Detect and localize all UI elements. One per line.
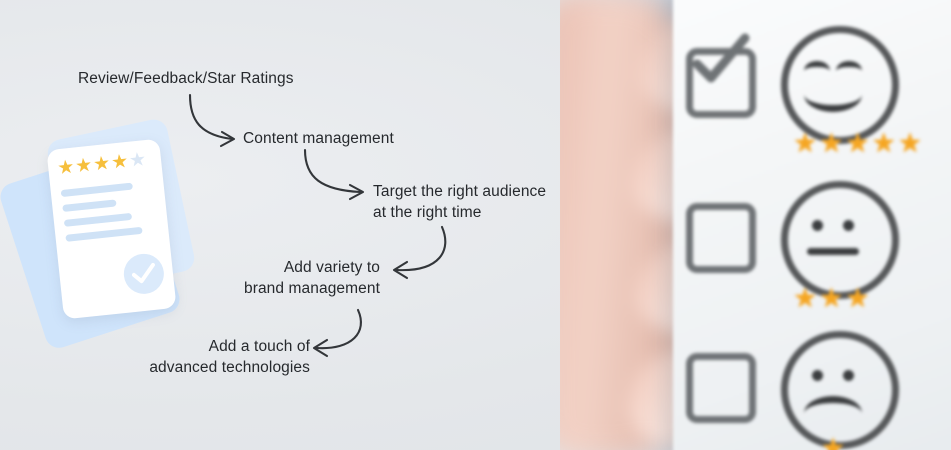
neutral-mouth (807, 248, 859, 255)
document-check-badge (122, 252, 166, 296)
arrow-1-head (221, 132, 234, 146)
arrow-4-head (314, 340, 327, 356)
feedback-row-sad[interactable]: ★ (673, 331, 951, 450)
arrow-2-head (350, 185, 363, 199)
star: ★ (793, 130, 817, 157)
star-filled: ★ (74, 156, 93, 177)
happy-mouth (804, 77, 862, 112)
feedback-row-happy[interactable]: ★ ★ ★ ★ ★ (673, 26, 951, 166)
checkbox-neutral[interactable] (686, 203, 756, 273)
stars-happy: ★ ★ ★ ★ ★ (793, 130, 922, 157)
feedback-row-neutral[interactable]: ★ ★ ★ (673, 181, 951, 321)
feedback-rows: ★ ★ ★ ★ ★ ★ ★ ★ (673, 0, 951, 450)
star: ★ (898, 130, 922, 157)
arrow-3-head (394, 262, 407, 278)
sad-eye-right (843, 370, 854, 381)
flow-step-4: Add variety to brand management (222, 257, 380, 299)
neutral-eye-right (843, 220, 854, 231)
document-text-line (62, 199, 116, 212)
sad-eye-left (812, 370, 823, 381)
document-text-line (64, 213, 132, 227)
document-text-line (61, 183, 133, 197)
arrow-3-path (397, 227, 445, 270)
stars-sad: ★ (821, 435, 845, 450)
flow-step-5: Add a touch of advanced technologies (120, 336, 310, 378)
star: ★ (821, 435, 845, 450)
infographic-canvas: ★ ★ ★ ★ ★ ★ ★ ★ (0, 0, 951, 450)
star-empty: ★ (128, 150, 147, 171)
flow-step-2: Content management (243, 128, 394, 149)
document-front-card: ★ ★ ★ ★ ★ (46, 139, 176, 320)
neutral-eye-left (812, 220, 823, 231)
star: ★ (845, 130, 869, 157)
document-illustration: ★ ★ ★ ★ ★ (12, 126, 212, 341)
sad-mouth (804, 396, 862, 431)
star: ★ (819, 130, 843, 157)
checkmark-icon (689, 32, 751, 88)
sad-face-icon (781, 331, 899, 449)
star: ★ (845, 285, 869, 312)
star-filled: ★ (56, 158, 75, 179)
happy-face-icon (781, 26, 899, 144)
star: ★ (819, 285, 843, 312)
arrow-2-path (305, 150, 360, 192)
star: ★ (793, 285, 817, 312)
feedback-photo: ★ ★ ★ ★ ★ ★ ★ ★ (560, 0, 951, 450)
star: ★ (872, 130, 896, 157)
flow-step-1: Review/Feedback/Star Ratings (78, 68, 294, 89)
flow-step-3: Target the right audience at the right t… (373, 181, 546, 223)
stars-neutral: ★ ★ ★ (793, 285, 870, 312)
arrow-4-path (317, 310, 361, 348)
star-filled: ★ (110, 152, 129, 173)
star-filled: ★ (92, 154, 111, 175)
checkbox-sad[interactable] (686, 353, 756, 423)
document-star-rating: ★ ★ ★ ★ ★ (56, 150, 147, 178)
document-text-line (65, 227, 142, 242)
check-icon (131, 263, 157, 285)
neutral-face-icon (781, 181, 899, 299)
